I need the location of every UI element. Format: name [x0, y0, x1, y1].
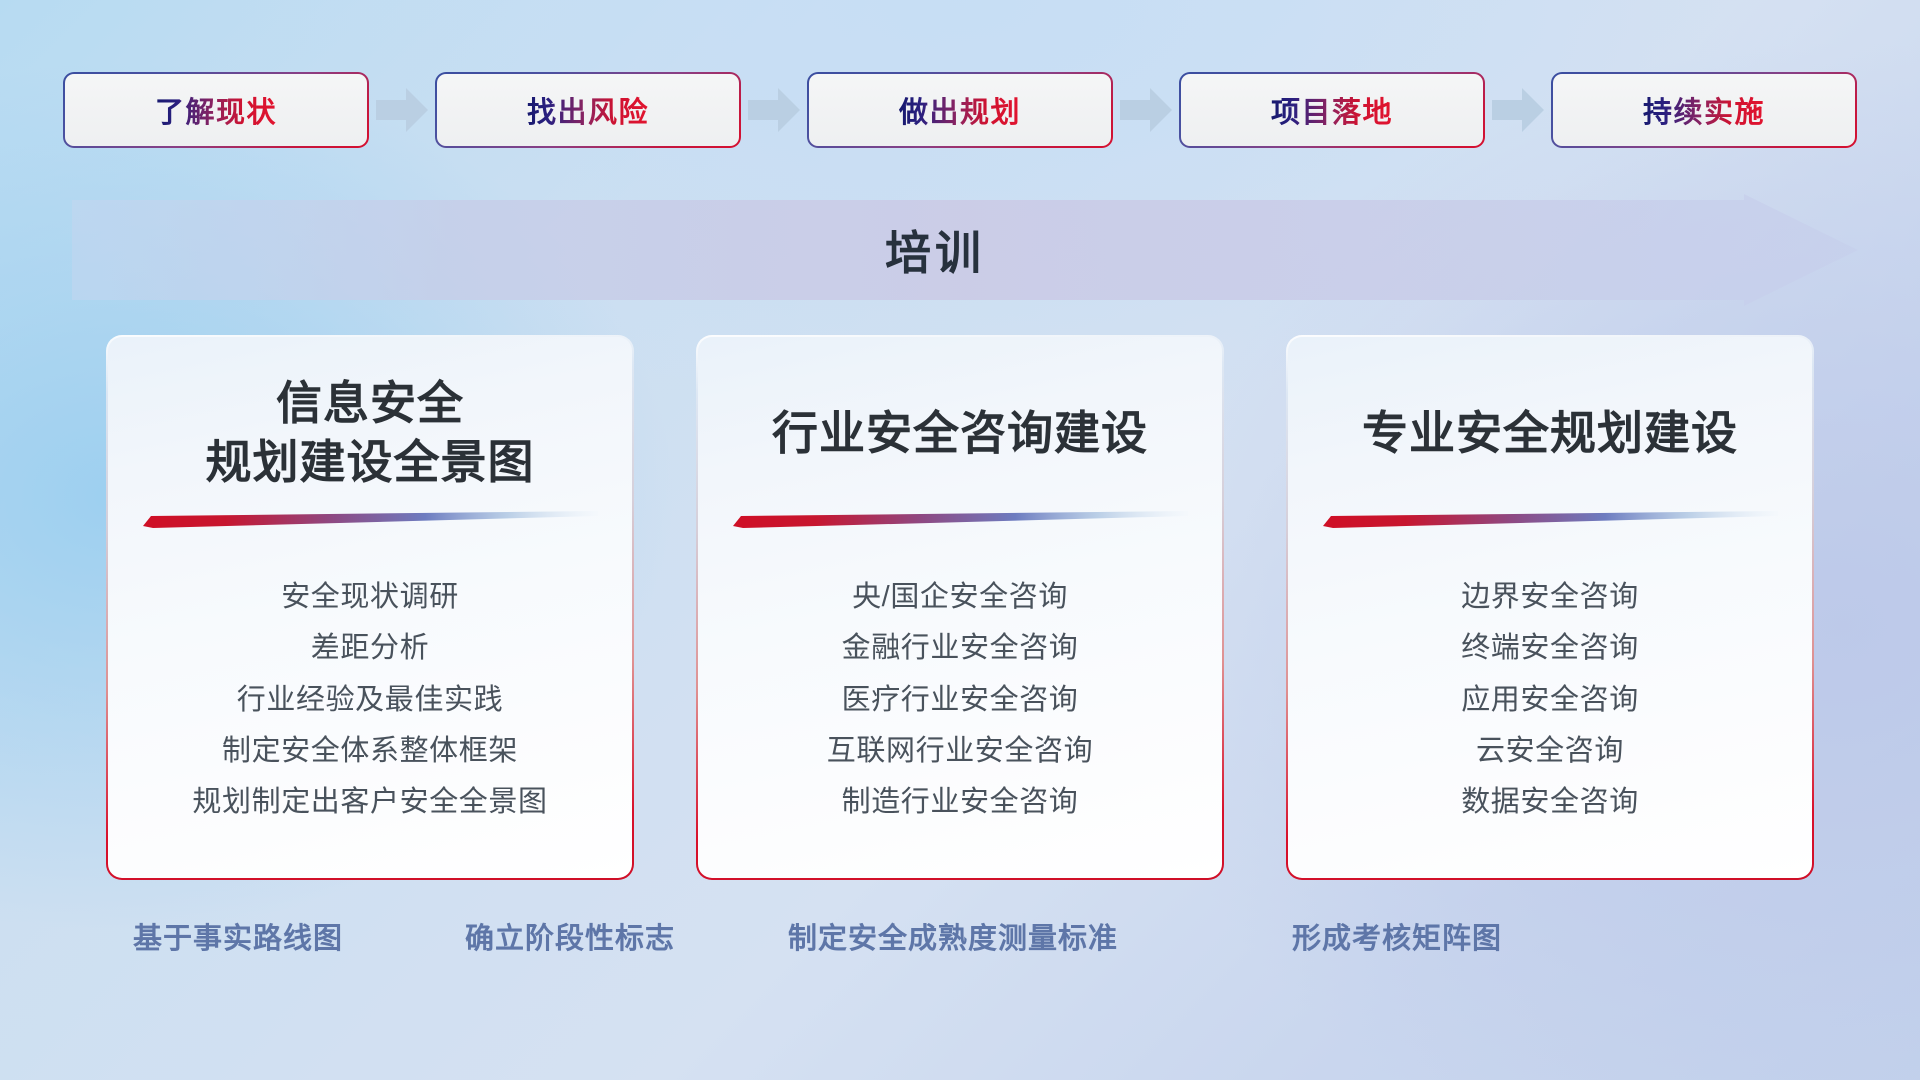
step-label-1: 了解现状 — [155, 89, 277, 131]
card-1-list-item-4: 制定安全体系整体框架 — [222, 726, 518, 776]
card-1[interactable]: 信息安全 规划建设全景图 安全现状调研 差 — [106, 335, 634, 880]
card-1-list-item-5: 规划制定出客户安全全景图 — [192, 777, 547, 827]
step-arrow-icon-3 — [1113, 72, 1179, 148]
card-3-title: 专业安全规划建设 — [1362, 373, 1738, 493]
card-1-list-item-3: 行业经验及最佳实践 — [237, 675, 503, 725]
card-3-divider-icon — [1323, 511, 1778, 528]
step-box-5-inner: 持续实施 — [1553, 74, 1855, 146]
process-step-row: 了解现状 找出风险 做出规划 项目落地 — [0, 72, 1920, 148]
card-2-title: 行业安全咨询建设 — [772, 373, 1148, 493]
step-box-4-inner: 项目落地 — [1181, 74, 1483, 146]
card-3-list-item-4: 云安全咨询 — [1476, 726, 1624, 776]
card-2-divider-icon — [733, 511, 1188, 528]
step-box-5[interactable]: 持续实施 — [1551, 72, 1857, 148]
card-1-list-item-1: 安全现状调研 — [281, 572, 459, 622]
card-3[interactable]: 专业安全规划建设 边界安全咨询 终端安全咨询 — [1286, 335, 1814, 880]
step-box-1[interactable]: 了解现状 — [63, 72, 369, 148]
card-3-list: 边界安全咨询 终端安全咨询 应用安全咨询 云安全咨询 数据安全咨询 — [1461, 572, 1639, 828]
card-2-list-item-1: 央/国企安全咨询 — [852, 572, 1068, 622]
step-box-3[interactable]: 做出规划 — [807, 72, 1113, 148]
card-2-list: 央/国企安全咨询 金融行业安全咨询 医疗行业安全咨询 互联网行业安全咨询 制造行… — [827, 572, 1093, 828]
card-3-inner: 专业安全规划建设 边界安全咨询 终端安全咨询 — [1288, 337, 1812, 878]
card-2-list-item-4: 互联网行业安全咨询 — [827, 726, 1093, 776]
card-1-list: 安全现状调研 差距分析 行业经验及最佳实践 制定安全体系整体框架 规划制定出客户… — [192, 572, 547, 828]
step-arrow-icon-1 — [369, 72, 435, 148]
step-label-3: 做出规划 — [899, 89, 1021, 131]
step-label-5: 持续实施 — [1643, 89, 1765, 131]
card-1-title-line-1: 信息安全 — [206, 374, 535, 433]
banner-title: 培训 — [72, 194, 1858, 306]
card-2-list-item-5: 制造行业安全咨询 — [842, 777, 1079, 827]
step-arrow-icon-4 — [1485, 72, 1551, 148]
card-1-title-line-2: 规划建设全景图 — [206, 433, 535, 492]
card-1-list-item-2: 差距分析 — [311, 623, 429, 673]
step-box-2[interactable]: 找出风险 — [435, 72, 741, 148]
card-3-list-item-5: 数据安全咨询 — [1461, 777, 1639, 827]
step-box-2-inner: 找出风险 — [437, 74, 739, 146]
card-1-divider-icon — [143, 511, 598, 528]
card-3-title-line-1: 专业安全规划建设 — [1362, 404, 1738, 463]
training-banner: 培训 — [72, 194, 1858, 306]
card-2[interactable]: 行业安全咨询建设 央/国企安全咨询 金融行业安全咨询 — [696, 335, 1224, 880]
step-label-2: 找出风险 — [527, 89, 649, 131]
caption-2: 确立阶段性标志 — [465, 915, 675, 957]
caption-4: 形成考核矩阵图 — [1292, 915, 1502, 957]
caption-row: 基于事实路线图 确立阶段性标志 制定安全成熟度测量标准 形成考核矩阵图 — [0, 915, 1920, 975]
step-box-3-inner: 做出规划 — [809, 74, 1111, 146]
step-arrow-icon-2 — [741, 72, 807, 148]
step-box-1-inner: 了解现状 — [65, 74, 367, 146]
caption-3: 制定安全成熟度测量标准 — [788, 915, 1118, 957]
step-box-4[interactable]: 项目落地 — [1179, 72, 1485, 148]
card-2-list-item-3: 医疗行业安全咨询 — [842, 675, 1079, 725]
card-3-list-item-2: 终端安全咨询 — [1461, 623, 1639, 673]
caption-1: 基于事实路线图 — [133, 915, 343, 957]
card-2-list-item-2: 金融行业安全咨询 — [842, 623, 1079, 673]
card-2-inner: 行业安全咨询建设 央/国企安全咨询 金融行业安全咨询 — [698, 337, 1222, 878]
card-3-list-item-1: 边界安全咨询 — [1461, 572, 1639, 622]
card-2-title-line-1: 行业安全咨询建设 — [772, 404, 1148, 463]
step-label-4: 项目落地 — [1271, 89, 1393, 131]
card-1-inner: 信息安全 规划建设全景图 安全现状调研 差 — [108, 337, 632, 878]
card-row: 信息安全 规划建设全景图 安全现状调研 差 — [0, 335, 1920, 880]
card-3-list-item-3: 应用安全咨询 — [1461, 675, 1639, 725]
card-1-title: 信息安全 规划建设全景图 — [206, 373, 535, 493]
